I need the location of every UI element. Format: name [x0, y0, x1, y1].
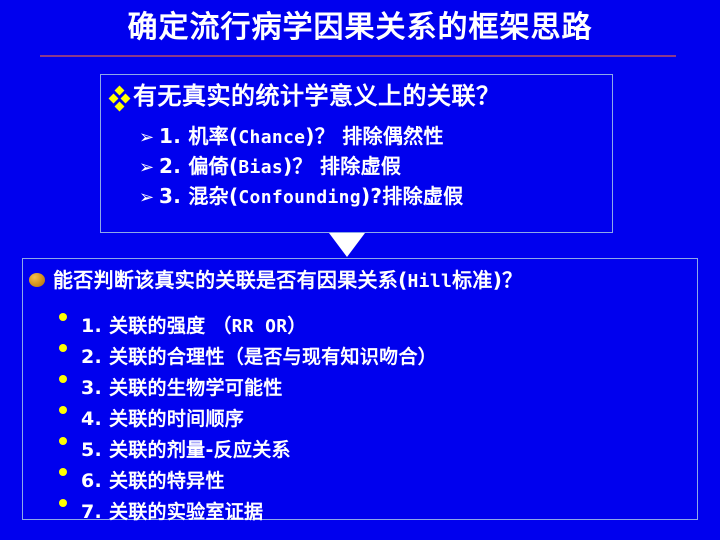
- box-one-heading: 有无真实的统计学意义上的关联？: [133, 81, 501, 111]
- list-item-label: 5. 关联的剂量-反应关系: [81, 435, 291, 466]
- yellow-dot-icon: [59, 363, 81, 394]
- list-item: ➢ 3. 混杂(Confounding)?排除虚假: [139, 181, 609, 211]
- yellow-dot-icon: [59, 394, 81, 425]
- list-item: ➢ 2. 偏倚(Bias)？ 排除虚假: [139, 151, 609, 181]
- yellow-dot-icon: [59, 301, 81, 332]
- causal-criteria-box: 能否判断该真实的关联是否有因果关系(Hill标准)？ 1. 关联的强度 （RR …: [22, 258, 698, 520]
- list-item: ➢ 1. 机率(Chance)？ 排除偶然性: [139, 121, 609, 151]
- arrow-bullet-icon: ➢: [139, 153, 159, 183]
- list-item-label: 1. 关联的强度 （RR OR）: [81, 311, 307, 342]
- four-diamond-bullet-icon: [109, 84, 131, 110]
- list-item-label: 2. 关联的合理性（是否与现有知识吻合）: [81, 342, 437, 373]
- list-item-label: 7. 关联的实验室证据: [81, 497, 263, 528]
- list-item-label: 3. 混杂(Confounding)?排除虚假: [159, 181, 463, 213]
- arrow-bullet-icon: ➢: [139, 183, 159, 213]
- latin-run: Chance: [238, 127, 305, 148]
- yellow-dot-icon: [59, 487, 81, 518]
- box-one-item-list: ➢ 1. 机率(Chance)？ 排除偶然性 ➢ 2. 偏倚(Bias)？ 排除…: [139, 121, 609, 211]
- box-two-item-list: 1. 关联的强度 （RR OR） 2. 关联的合理性（是否与现有知识吻合） 3.…: [59, 301, 679, 518]
- box-two-heading: 能否判断该真实的关联是否有因果关系(Hill标准)？: [53, 265, 522, 297]
- arrow-bullet-icon: ➢: [139, 123, 159, 153]
- list-item: 1. 关联的强度 （RR OR）: [59, 301, 679, 332]
- list-item-label: 6. 关联的特异性: [81, 466, 225, 497]
- latin-run: RR OR: [232, 316, 288, 337]
- list-item-label: 3. 关联的生物学可能性: [81, 373, 283, 404]
- box-one-heading-row: 有无真实的统计学意义上的关联？: [109, 81, 501, 111]
- slide-canvas: 确定流行病学因果关系的框架思路 有无真实的统计学意义上的关联？ ➢ 1. 机率(…: [0, 0, 720, 540]
- title-divider: [40, 55, 676, 57]
- yellow-dot-icon: [59, 332, 81, 363]
- latin-run: Confounding: [238, 187, 361, 208]
- list-item-label: 1. 机率(Chance)？ 排除偶然性: [159, 121, 444, 153]
- yellow-dot-icon: [59, 456, 81, 487]
- page-title: 确定流行病学因果关系的框架思路: [0, 8, 720, 48]
- latin-run: Hill: [408, 271, 453, 292]
- latin-run: Bias: [238, 157, 283, 178]
- yellow-dot-icon: [59, 425, 81, 456]
- list-item-label: 2. 偏倚(Bias)？ 排除虚假: [159, 151, 401, 183]
- box-two-heading-row: 能否判断该真实的关联是否有因果关系(Hill标准)？: [29, 265, 522, 297]
- list-item-label: 4. 关联的时间顺序: [81, 404, 244, 435]
- down-triangle-icon: [329, 233, 365, 257]
- statistical-association-box: 有无真实的统计学意义上的关联？ ➢ 1. 机率(Chance)？ 排除偶然性 ➢…: [100, 74, 613, 233]
- gold-sphere-bullet-icon: [29, 273, 45, 287]
